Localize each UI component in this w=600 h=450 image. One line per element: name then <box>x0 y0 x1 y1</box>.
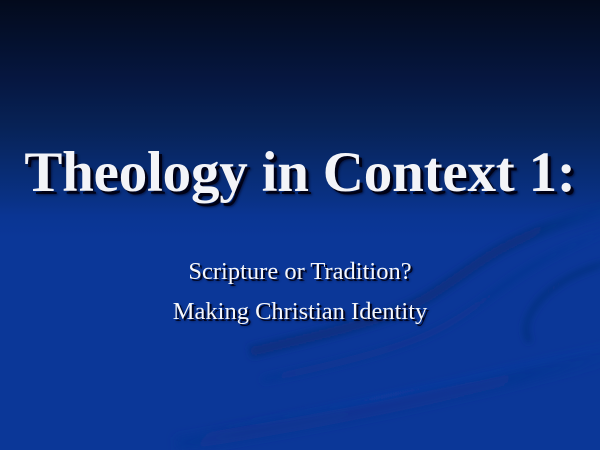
page-title: Theology in Context 1: <box>0 143 600 203</box>
subtitle-line-2: Making Christian Identity <box>0 292 600 332</box>
presentation-title-slide: Theology in Context 1: Scripture or Trad… <box>0 0 600 450</box>
slide-content: Theology in Context 1: Scripture or Trad… <box>0 0 600 450</box>
subtitle-line-1: Scripture or Tradition? <box>0 252 600 292</box>
subtitle-block: Scripture or Tradition? Making Christian… <box>0 252 600 332</box>
